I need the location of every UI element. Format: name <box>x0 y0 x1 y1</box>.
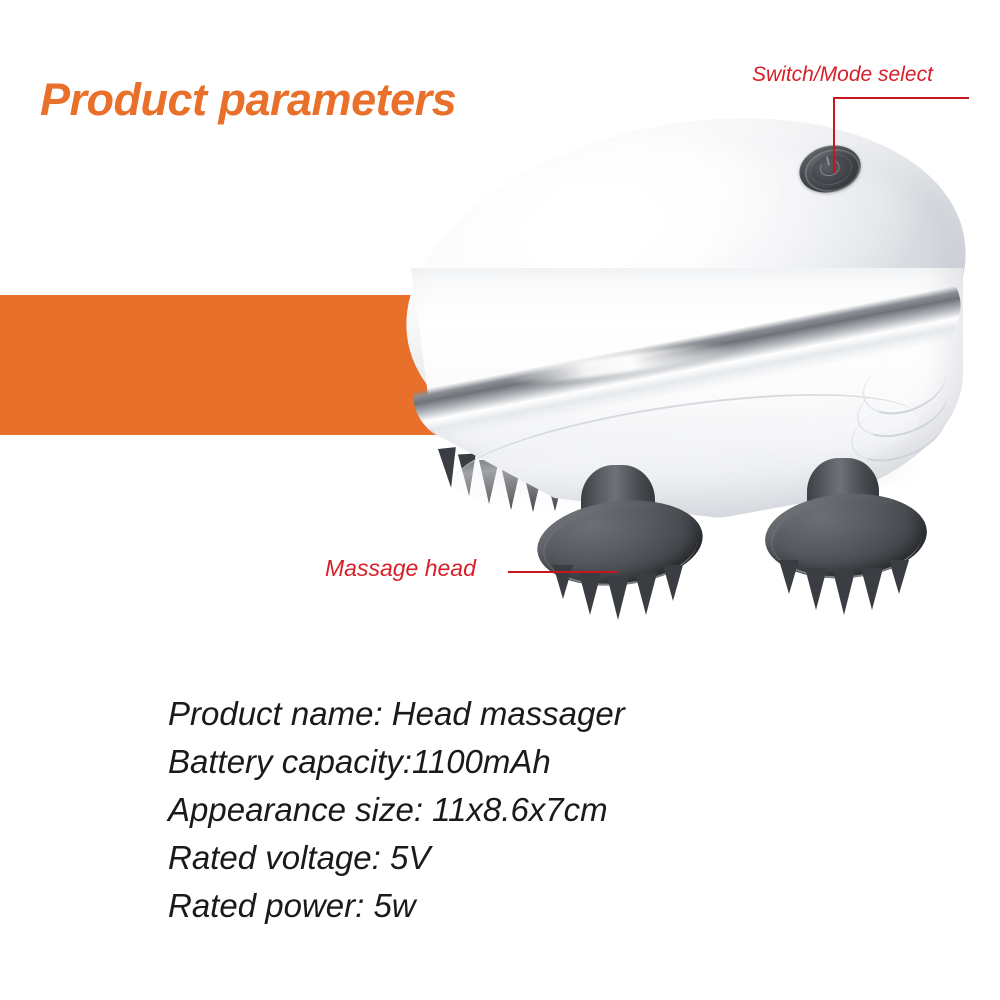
spec-battery-capacity: Battery capacity:1100mAh <box>168 738 888 786</box>
annotation-switch-mode-select: Switch/Mode select <box>752 63 933 87</box>
leader-line-switch-horizontal <box>835 97 969 99</box>
product-parameters-infographic: Product parameters <box>0 0 1000 1000</box>
specifications-list: Product name: Head massager Battery capa… <box>168 690 888 930</box>
spec-product-name: Product name: Head massager <box>168 690 888 738</box>
spec-appearance-size: Appearance size: 11x8.6x7cm <box>168 786 888 834</box>
leader-line-switch-vertical <box>833 97 835 173</box>
spec-rated-power: Rated power: 5w <box>168 882 888 930</box>
spec-rated-voltage: Rated voltage: 5V <box>168 834 888 882</box>
product-illustration <box>385 118 985 618</box>
device-vent-grooves <box>855 356 975 466</box>
orange-accent-band <box>0 295 445 435</box>
annotation-massage-head: Massage head <box>325 555 476 582</box>
leader-line-massage-horizontal <box>508 571 618 573</box>
